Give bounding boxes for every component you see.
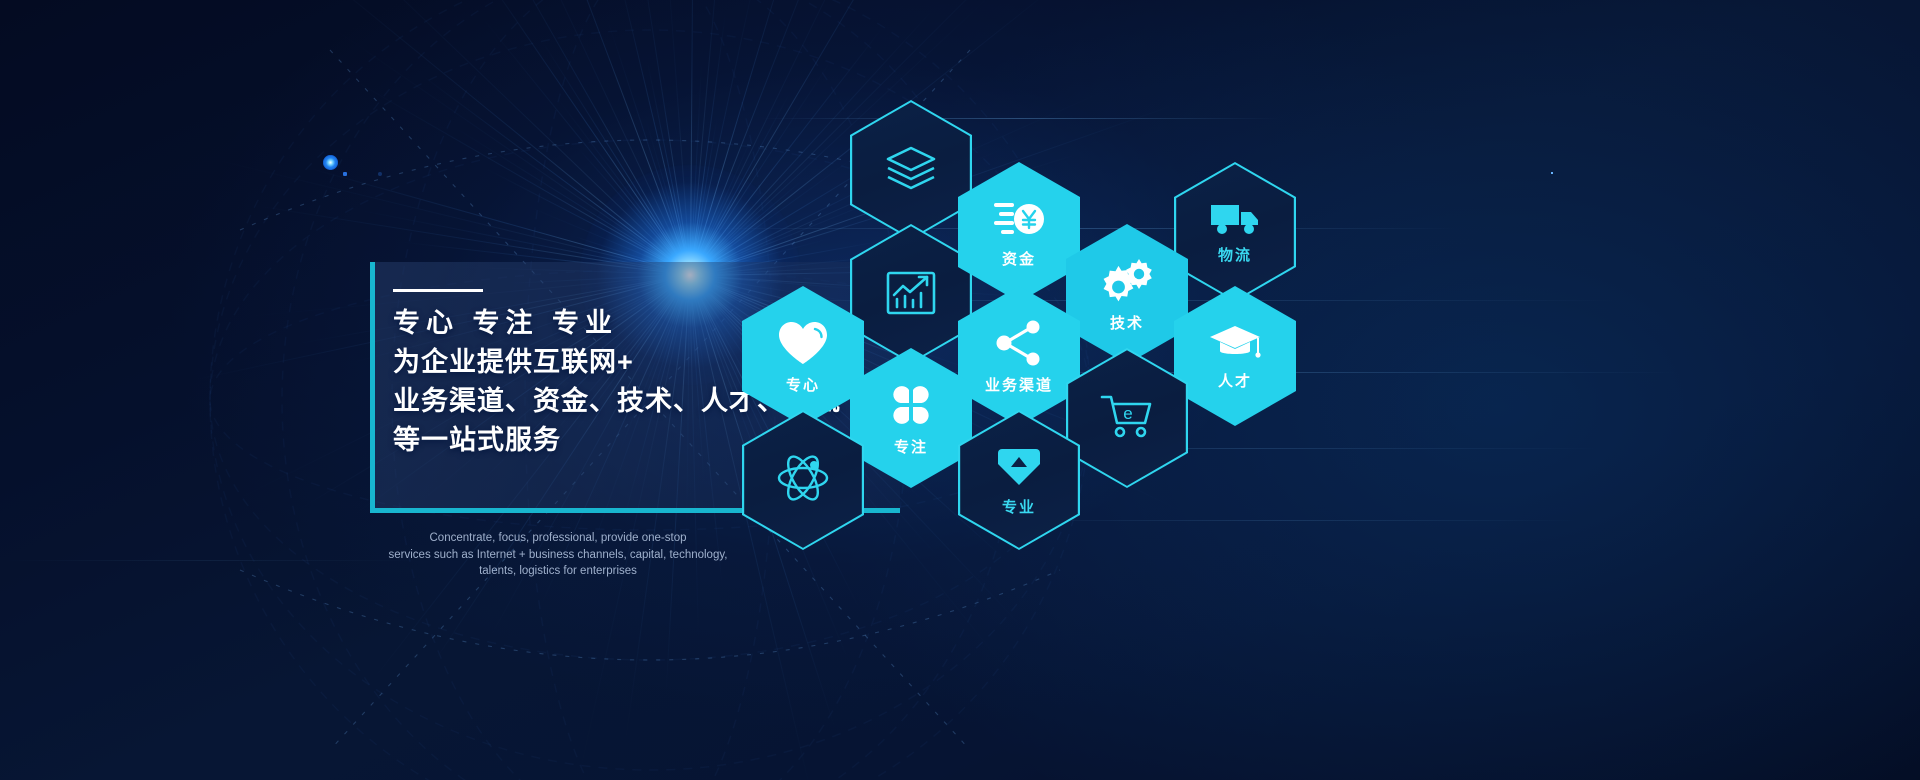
hex-label-logistics: 物流: [1218, 248, 1252, 263]
hex-label-capital: 资金: [1002, 252, 1036, 267]
hexagon-cluster: 资金 物流: [740, 100, 1320, 520]
subtitle-line-1: Concentrate, focus, professional, provid…: [348, 530, 768, 547]
diamond-icon: [996, 445, 1042, 494]
hex-label-channel: 业务渠道: [985, 378, 1053, 393]
clover-icon: [887, 381, 935, 434]
atom-icon: [776, 453, 830, 508]
subtitle-line-3: talents, logistics for enterprises: [348, 563, 768, 580]
shopping-cart-e-icon: e: [1100, 393, 1154, 444]
heart-icon: [776, 319, 830, 372]
gears-icon: [1101, 257, 1153, 310]
layers-icon: [884, 144, 938, 197]
headline-rule: [393, 289, 483, 292]
hex-label-talent: 人才: [1218, 374, 1252, 389]
hex-label-professional: 专业: [1002, 500, 1036, 515]
subtitle-english: Concentrate, focus, professional, provid…: [348, 530, 768, 580]
yen-money-icon: [992, 197, 1046, 246]
hex-label-tech: 技术: [1110, 316, 1144, 331]
hex-label-dedication: 专注: [894, 440, 928, 455]
truck-icon: [1209, 201, 1261, 242]
svg-text:e: e: [1123, 404, 1132, 423]
share-nodes-icon: [994, 319, 1044, 372]
hero-banner: 专心 专注 专业 为企业提供互联网+ 业务渠道、资金、技术、人才、物流 等一站式…: [0, 0, 1920, 780]
growth-chart-icon: [885, 267, 937, 322]
hex-label-focus: 专心: [786, 378, 820, 393]
graduation-cap-icon: [1208, 323, 1262, 368]
subtitle-line-2: services such as Internet + business cha…: [348, 547, 768, 564]
